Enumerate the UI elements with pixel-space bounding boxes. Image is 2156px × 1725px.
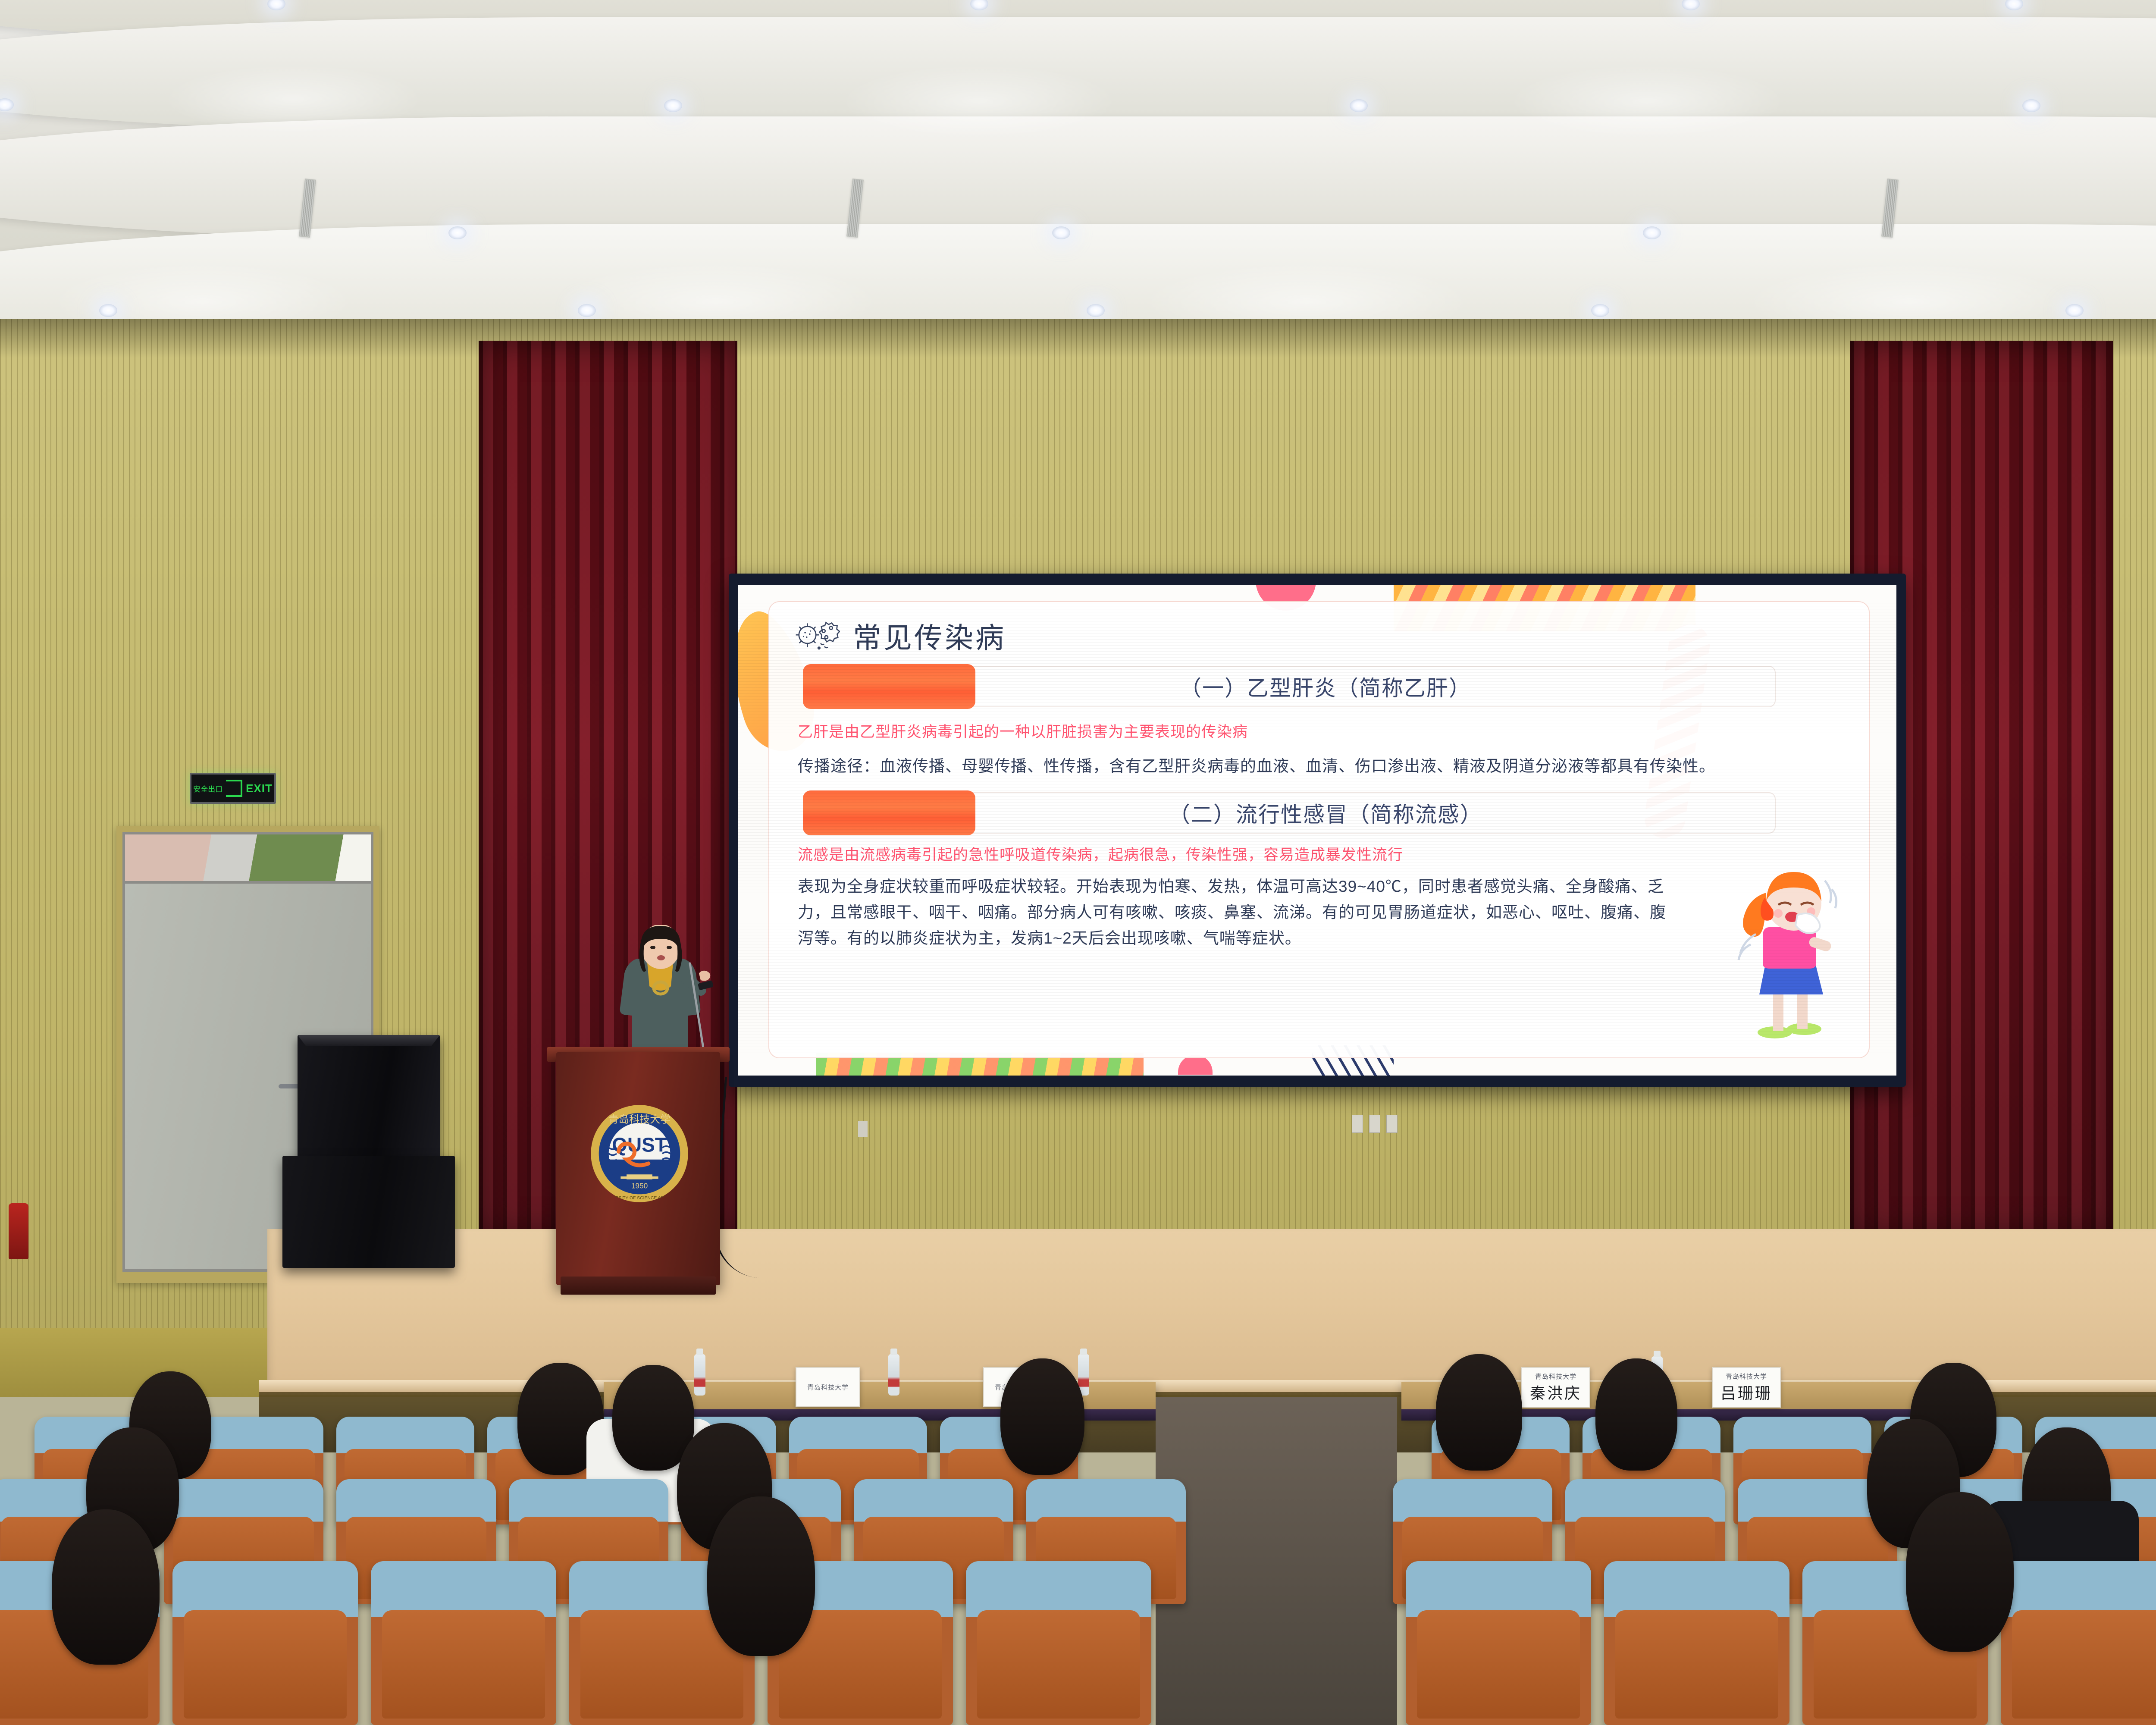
- audience-head: [1906, 1492, 2014, 1652]
- podium-base: [561, 1276, 716, 1295]
- section-body-2: 表现为全身症状较重而呼吸症状较轻。开始表现为怕寒、发热，体温可高达39~40℃，…: [798, 874, 1669, 951]
- wall-top-shadow: [0, 319, 2156, 358]
- center-aisle: [1156, 1397, 1397, 1725]
- auditorium-scene: 安全出口 EXIT 安全出口 EXIT: [0, 0, 2156, 1725]
- pa-speaker-left-top: [298, 1035, 440, 1160]
- ceiling-downlight: [2065, 304, 2084, 317]
- seat[interactable]: [371, 1561, 556, 1725]
- ceiling-downlight: [99, 304, 117, 317]
- ceiling-downlight: [2022, 99, 2040, 112]
- germ-virus-icon: [793, 617, 840, 654]
- audience-head: [1595, 1358, 1677, 1471]
- section-accent-pill-1: [803, 664, 975, 709]
- ceiling-downlight: [1350, 99, 1368, 112]
- section-label-box-1: （一）乙型肝炎（简称乙肝）: [875, 666, 1776, 707]
- placard-name: 吕珊珊: [1720, 1381, 1772, 1403]
- slide-header: 常见传染病: [793, 615, 1845, 656]
- projection-screen: 常见传染病 （一）乙型肝炎（简称乙肝） 乙肝是由乙型肝炎病毒引起的一种以肝脏损害…: [738, 585, 1896, 1076]
- projection-screen-frame: 常见传染病 （一）乙型肝炎（简称乙肝） 乙肝是由乙型肝炎病毒引起的一种以肝脏损害…: [729, 574, 1906, 1087]
- ceiling-downlight: [664, 99, 682, 112]
- running-man-icon: [226, 780, 242, 797]
- name-placard-2: 青岛科技大学 吕珊珊: [1712, 1367, 1781, 1408]
- section-body-1: 传播途径：血液传播、母婴传播、性传播，含有乙型肝炎病毒的血液、血清、伤口渗出液、…: [798, 753, 1845, 779]
- section-highlight-1: 乙肝是由乙型肝炎病毒引起的一种以肝脏损害为主要表现的传染病: [798, 722, 1845, 742]
- exit-sign-label-cn: 安全出口: [193, 783, 222, 794]
- wall-outlet: [1352, 1115, 1363, 1133]
- name-placard-1: 青岛科技大学 秦洪庆: [1521, 1367, 1590, 1408]
- seat[interactable]: [2001, 1561, 2156, 1725]
- ceiling-downlight: [1643, 226, 1661, 239]
- section-highlight-2: 流感是由流感病毒引起的急性呼吸道传染病，起病很急，传染性强，容易造成暴发性流行: [798, 845, 1845, 865]
- section-accent-pill-2: [803, 790, 975, 835]
- svg-text:1950: 1950: [631, 1182, 648, 1190]
- ceiling: [0, 0, 2156, 332]
- pa-speaker-left-sub: [282, 1156, 455, 1268]
- seat[interactable]: [966, 1561, 1151, 1725]
- placard-org: 青岛科技大学: [1726, 1372, 1767, 1381]
- svg-text:青岛科技大学: 青岛科技大学: [608, 1114, 671, 1126]
- audience-head: [1000, 1358, 1084, 1475]
- presenter-speaker: [596, 925, 730, 1067]
- water-bottle: [888, 1354, 899, 1396]
- audience-head: [612, 1365, 694, 1471]
- name-placard-3: 青岛科技大学: [796, 1367, 860, 1407]
- ceiling-downlight: [448, 226, 467, 239]
- slide-title: 常见传染病: [853, 615, 1006, 656]
- audience-head: [707, 1496, 815, 1656]
- door-transom-left: [122, 832, 373, 884]
- sneezing-girl-cartoon: [1725, 863, 1854, 1044]
- placard-name: 秦洪庆: [1530, 1381, 1582, 1403]
- water-bottle: [694, 1354, 705, 1396]
- slide-section-header-1: （一）乙型肝炎（简称乙肝）: [793, 664, 1845, 709]
- slide-content-card: 常见传染病 （一）乙型肝炎（简称乙肝） 乙肝是由乙型肝炎病毒引起的一种以肝脏损害…: [768, 601, 1870, 1058]
- placard-org: 青岛科技大学: [807, 1383, 849, 1392]
- audience-head: [1436, 1354, 1522, 1471]
- seat[interactable]: [172, 1561, 358, 1725]
- ceiling-downlight: [1052, 226, 1070, 239]
- exit-sign-label-en: EXIT: [246, 782, 273, 795]
- placard-org: 青岛科技大学: [1535, 1372, 1576, 1381]
- fire-extinguisher: [9, 1203, 28, 1259]
- wall-outlet: [858, 1121, 868, 1137]
- section-label-1: （一）乙型肝炎（简称乙肝）: [1180, 671, 1471, 702]
- audience-head: [52, 1509, 160, 1665]
- ceiling-downlight: [1591, 304, 1609, 317]
- wall-outlet: [1369, 1115, 1380, 1133]
- ceiling-band: [0, 116, 2156, 241]
- ceiling-downlight: [1087, 304, 1105, 317]
- seat[interactable]: [1604, 1561, 1789, 1725]
- ceiling-downlight: [578, 304, 596, 317]
- slide-section-header-2: （二）流行性感冒（简称流感）: [793, 790, 1845, 835]
- wall-outlet: [1386, 1115, 1398, 1133]
- qust-university-seal: 青岛科技大学 QUST 1950 QINGDAO UNIVERSITY OF S…: [590, 1104, 689, 1203]
- section-label-2: （二）流行性感冒（简称流感）: [1169, 797, 1482, 828]
- seat[interactable]: [1406, 1561, 1591, 1725]
- ceiling-band: [0, 224, 2156, 332]
- exit-sign-left: 安全出口 EXIT: [190, 773, 276, 804]
- section-label-box-2: （二）流行性感冒（简称流感）: [875, 792, 1776, 834]
